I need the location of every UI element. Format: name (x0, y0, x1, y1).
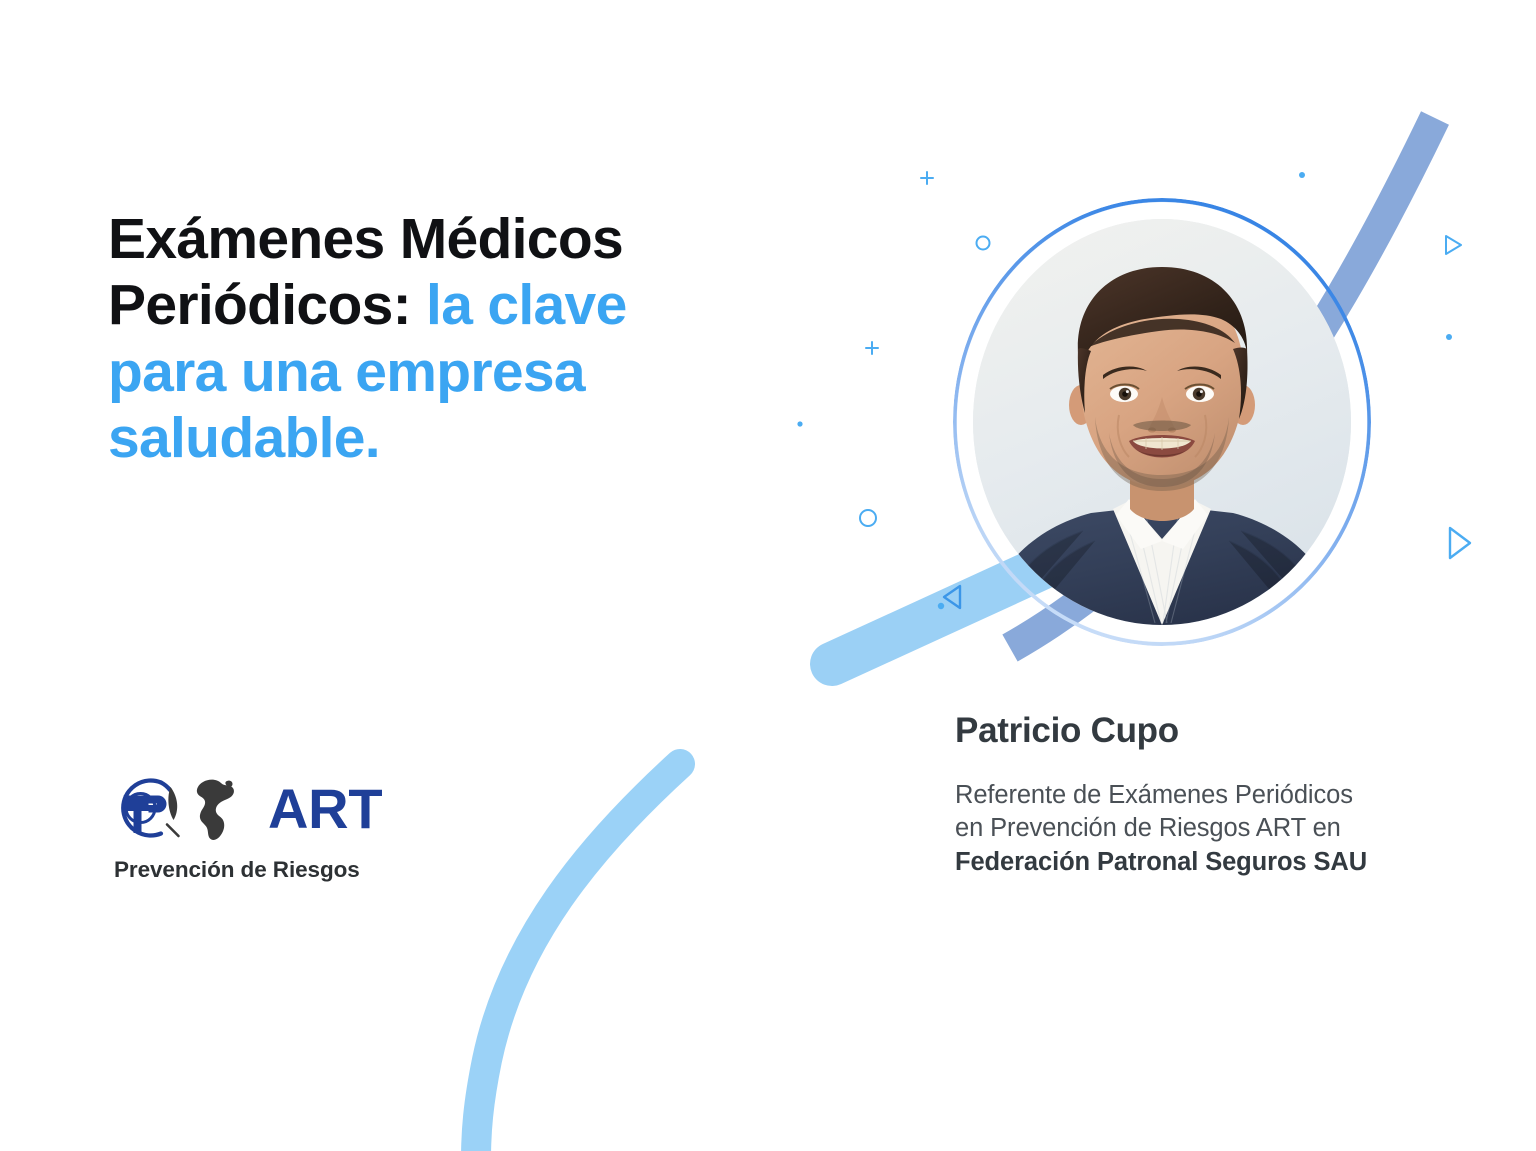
headline-line-2-accent: la clave (411, 273, 627, 337)
dot-icon (1446, 334, 1452, 340)
circle-outline-icon (860, 510, 876, 526)
portrait-illustration-icon (973, 219, 1351, 625)
dot-icon (1299, 172, 1305, 178)
headline-line-2-dark: Periódicos: (108, 273, 411, 337)
speaker-organization: Federación Patronal Seguros SAU (955, 848, 1367, 876)
speaker-role-line-2: en Prevención de Riesgos ART en (955, 814, 1341, 842)
art-wordmark: ART (268, 781, 382, 837)
plus-icon-group (866, 172, 933, 354)
logo-tagline: Prevención de Riesgos (108, 857, 382, 883)
speaker-role: Referente de Exámenes Periódicos en Prev… (955, 779, 1435, 881)
logo-row: ART (108, 770, 382, 848)
bottom-left-arc (476, 764, 680, 1151)
headline-line-1: Exámenes Médicos (108, 207, 623, 271)
headline-line-4-accent: saludable. (108, 406, 380, 470)
art-logo-mark-icon (108, 770, 260, 848)
headline-line-3-accent: para una empresa (108, 340, 585, 404)
dot-icon (938, 603, 944, 609)
speaker-portrait (953, 198, 1371, 646)
speaker-role-line-1: Referente de Exámenes Periódicos (955, 781, 1353, 809)
art-logo: ART Prevención de Riesgos (108, 770, 382, 883)
presentation-slide: Exámenes Médicos Periódicos: la clave pa… (0, 0, 1536, 1151)
portrait-photo (973, 219, 1351, 625)
headline: Exámenes Médicos Periódicos: la clave pa… (108, 206, 768, 472)
dot-icon (797, 421, 802, 426)
speaker-name: Patricio Cupo (955, 712, 1435, 751)
triangle-right-icon (1450, 528, 1470, 558)
speaker-info: Patricio Cupo Referente de Exámenes Peri… (955, 712, 1435, 880)
triangle-right-icon (1446, 236, 1461, 254)
